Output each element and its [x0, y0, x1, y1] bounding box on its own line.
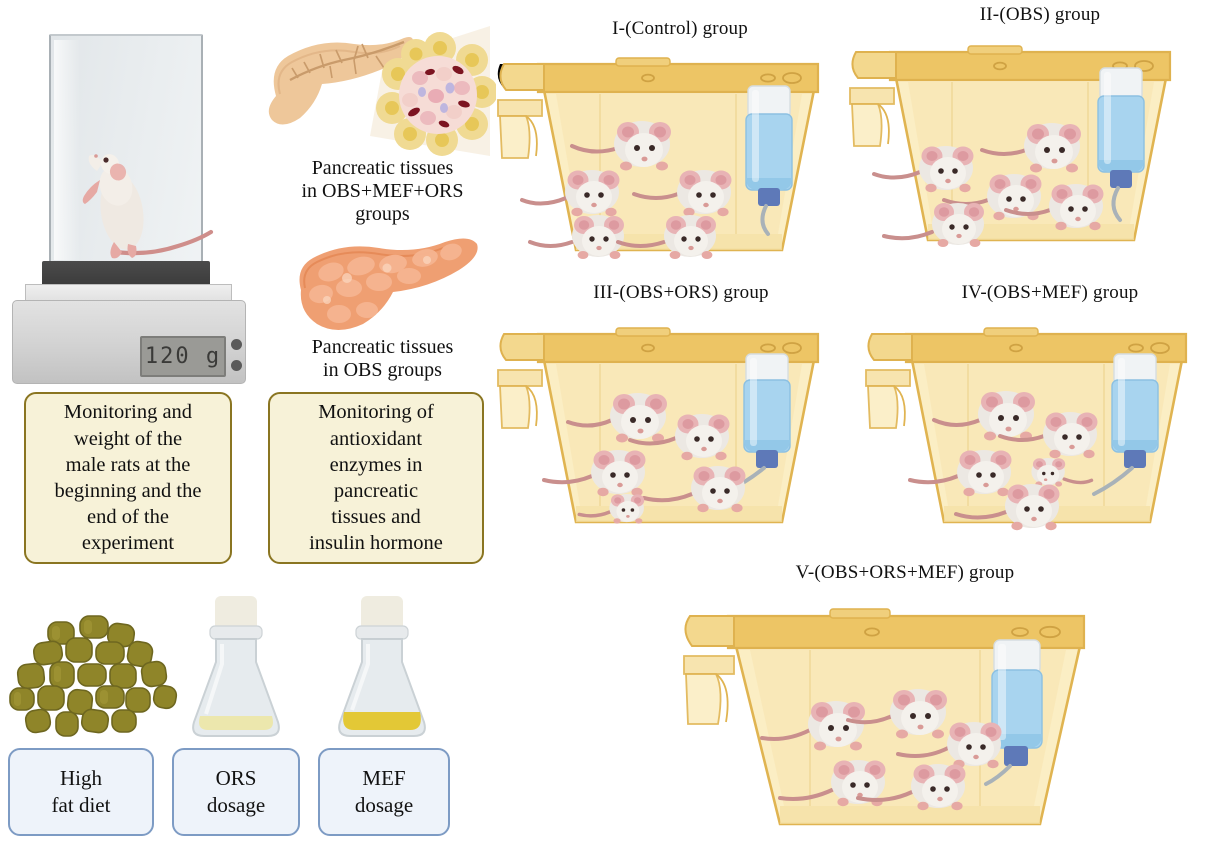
- rat-standing-icon: [56, 134, 216, 269]
- group-IV-label: IV-(OBS+MEF) group: [930, 282, 1170, 304]
- note-line: pancreatic: [309, 478, 443, 504]
- note-line: Monitoring and: [55, 399, 202, 425]
- box-line: High: [52, 765, 111, 792]
- box-line: dosage: [207, 792, 265, 819]
- group-II-label: II-(OBS) group: [930, 4, 1150, 26]
- box-line: fat diet: [52, 792, 111, 819]
- box-line: dosage: [355, 792, 413, 819]
- note-line: enzymes in: [309, 452, 443, 478]
- group-V-label: V-(OBS+ORS+MEF) group: [760, 562, 1050, 584]
- food-pellets-icon: [4, 612, 184, 744]
- box-line: MEF: [355, 765, 413, 792]
- scale-mat: [42, 261, 210, 286]
- caption-line: groups: [275, 203, 490, 226]
- note-line: male rats at the: [55, 452, 202, 478]
- mef-dosage-box: MEF dosage: [318, 748, 450, 836]
- note-line: antioxidant: [309, 426, 443, 452]
- healthy-pancreas-caption: Pancreatic tissues in OBS+MEF+ORS groups: [275, 157, 490, 227]
- high-fat-diet-box: High fat diet: [8, 748, 154, 836]
- group-III-label: III-(OBS+ORS) group: [556, 282, 806, 304]
- note-line: insulin hormone: [309, 530, 443, 556]
- cage-group-V: [680, 588, 1100, 844]
- caption-line: in OBS groups: [275, 359, 490, 382]
- cage-hopper: [866, 370, 910, 428]
- scale-knob-upper[interactable]: [231, 339, 242, 350]
- pancreas-with-islet-of-langerhans-icon: [258, 8, 496, 158]
- group-I-label: I-(Control) group: [560, 18, 800, 40]
- cage-group-I: [496, 38, 832, 268]
- cage-hopper: [684, 656, 734, 724]
- note-line: tissues and: [309, 504, 443, 530]
- cage-group-IV: [864, 308, 1200, 542]
- box-line: ORS: [207, 765, 265, 792]
- monitoring-weight-note: Monitoring and weight of the male rats a…: [24, 392, 232, 564]
- note-line: beginning and the: [55, 478, 202, 504]
- cage-hopper: [498, 370, 542, 428]
- scale-knob-lower[interactable]: [231, 360, 242, 371]
- monitoring-enzymes-note: Monitoring of antioxidant enzymes in pan…: [268, 392, 484, 564]
- note-line: end of the: [55, 504, 202, 530]
- mef-flask-icon: [328, 596, 436, 746]
- cage-hopper: [498, 100, 542, 158]
- note-line: experiment: [55, 530, 202, 556]
- note-line: Monitoring of: [309, 399, 443, 425]
- caption-line: in OBS+MEF+ORS: [275, 180, 490, 203]
- note-line: weight of the: [55, 426, 202, 452]
- ors-dosage-box: ORS dosage: [172, 748, 300, 836]
- caption-line: Pancreatic tissues: [275, 157, 490, 180]
- obese-pancreas-caption: Pancreatic tissues in OBS groups: [275, 336, 490, 382]
- cage-group-II: [848, 26, 1184, 260]
- cage-hopper: [850, 88, 894, 146]
- cage-group-III: [496, 308, 832, 542]
- caption-line: Pancreatic tissues: [275, 336, 490, 359]
- weighing-scale-illustration: 120 g: [12, 24, 262, 369]
- inflamed-pancreas-icon: [287, 228, 487, 340]
- ors-flask-icon: [182, 596, 290, 746]
- scale-display: 120 g: [140, 336, 226, 377]
